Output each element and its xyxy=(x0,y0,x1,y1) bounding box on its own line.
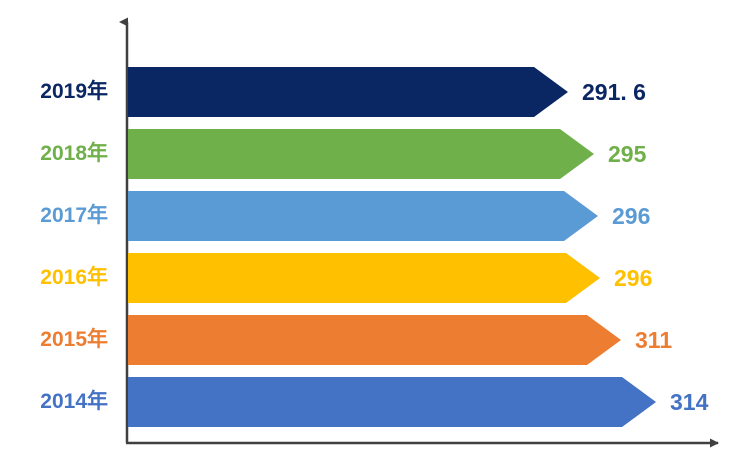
bar-row: 2014年314 xyxy=(0,377,742,427)
bar-row: 2019年291. 6 xyxy=(0,67,742,117)
category-label: 2014年 xyxy=(0,377,108,427)
arrow-bar-chart: 2019年291. 62018年2952017年2962016年2962015年… xyxy=(0,0,742,460)
value-label: 314 xyxy=(670,377,708,427)
bar-shape xyxy=(128,377,656,427)
bar-shape xyxy=(128,253,600,303)
bar-row: 2016年296 xyxy=(0,253,742,303)
category-label: 2015年 xyxy=(0,315,108,365)
bar-row: 2017年296 xyxy=(0,191,742,241)
bar-arrow xyxy=(128,377,656,427)
category-label: 2016年 xyxy=(0,253,108,303)
category-label: 2019年 xyxy=(0,67,108,117)
bar-row: 2018年295 xyxy=(0,129,742,179)
bar-shape xyxy=(128,129,594,179)
value-label: 295 xyxy=(608,129,646,179)
bar-arrow xyxy=(128,129,594,179)
bar-shape xyxy=(128,315,621,365)
value-label: 296 xyxy=(612,191,650,241)
category-label: 2018年 xyxy=(0,129,108,179)
category-label: 2017年 xyxy=(0,191,108,241)
bar-arrow xyxy=(128,315,621,365)
bar-arrow xyxy=(128,191,598,241)
value-label: 291. 6 xyxy=(582,67,646,117)
bar-shape xyxy=(128,191,598,241)
bar-row: 2015年311 xyxy=(0,315,742,365)
bar-arrow xyxy=(128,253,600,303)
value-label: 296 xyxy=(614,253,652,303)
bar-arrow xyxy=(128,67,568,117)
value-label: 311 xyxy=(635,315,672,365)
bar-shape xyxy=(128,67,568,117)
